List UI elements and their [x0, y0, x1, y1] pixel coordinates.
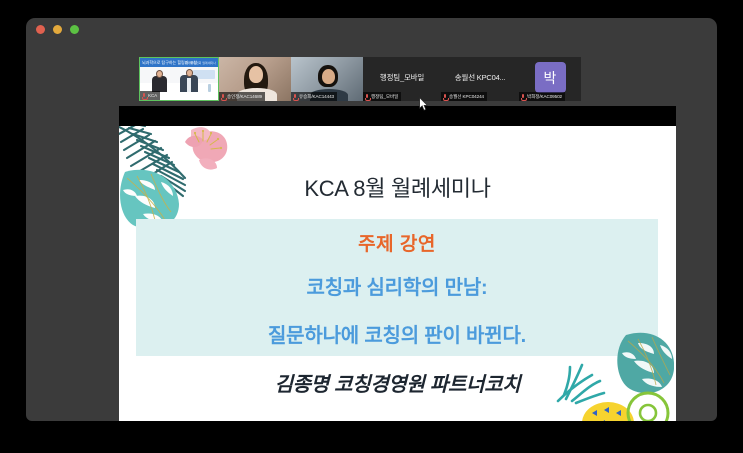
tile-inner-banner-subtitle: 한국코치협회 월례세미나 — [185, 60, 216, 66]
microphone-muted-icon — [365, 94, 369, 100]
participant-filmstrip[interactable]: 뇌과학으로 탐구하는 힐링과 코칭 한국코치협회 월례세미나 KCA — [139, 40, 623, 106]
microphone-muted-icon — [142, 93, 146, 99]
participant-name-badge: 행정팀_모바일 — [363, 92, 401, 101]
participant-name-text: 박희정/KAC09502 — [527, 92, 562, 101]
shared-screen-area[interactable]: KCA 8월 월례세미나 주제 강연 코칭과 심리학의 만남: 질문하나에 코칭… — [119, 106, 676, 421]
participant-tile-yoo-seung-hee[interactable]: 유승희/KAC14443 — [291, 57, 363, 101]
participant-name-text: 유승희/KAC14443 — [299, 92, 334, 101]
participant-tile-song-in-jeong[interactable]: 송인정/KAC14689 — [219, 57, 291, 101]
tile-person-face — [322, 69, 335, 84]
participant-name-badge: 유승희/KAC14443 — [291, 92, 337, 101]
microphone-muted-icon — [443, 94, 447, 100]
tile-inner-banner: 뇌과학으로 탐구하는 힐링과 코칭 한국코치협회 월례세미나 — [140, 58, 218, 67]
close-window-button[interactable] — [36, 25, 45, 34]
participant-name-badge: 송월선 KPC04244 — [441, 92, 487, 101]
participant-name-text: KCA — [148, 91, 157, 100]
traffic-lights — [36, 25, 79, 34]
zoom-meeting-window: 뇌과학으로 탐구하는 힐링과 코칭 한국코치협회 월례세미나 KCA — [26, 18, 717, 421]
slide-topic-panel: 주제 강연 코칭과 심리학의 만남: 질문하나에 코칭의 판이 바뀐다. — [136, 219, 658, 356]
presentation-slide: KCA 8월 월례세미나 주제 강연 코칭과 심리학의 만남: 질문하나에 코칭… — [119, 126, 676, 421]
tile-inner-bottle — [208, 84, 211, 92]
microphone-muted-icon — [293, 94, 297, 100]
participant-tile-song-wol-seon[interactable]: 송월선 KPC04... 송월선 KPC04244 — [441, 57, 519, 101]
letterbox-bar — [119, 106, 676, 126]
avatar: 박 — [535, 62, 566, 93]
participant-name-text: 송인정/KAC14689 — [227, 92, 262, 101]
participant-display-name: 행정팀_모바일 — [380, 72, 424, 83]
tile-person-man-face — [187, 70, 193, 76]
participant-name-badge: KCA — [140, 91, 160, 100]
slide-subtitle-line1: 코칭과 심리학의 만남: — [136, 271, 658, 300]
avatar-initial: 박 — [544, 68, 557, 88]
participant-name-text: 송월선 KPC04244 — [449, 92, 484, 101]
slide-subtitle-line2: 질문하나에 코칭의 판이 바뀐다. — [136, 319, 658, 348]
microphone-muted-icon — [521, 94, 525, 100]
tile-person-woman-body — [152, 76, 167, 92]
participant-tile-kca[interactable]: 뇌과학으로 탐구하는 힐링과 코칭 한국코치협회 월례세미나 KCA — [139, 57, 219, 101]
participant-name-badge: 박희정/KAC09502 — [519, 92, 565, 101]
mouse-cursor — [419, 97, 428, 111]
window-titlebar[interactable] — [26, 18, 717, 40]
participant-tile-admin-team-mobile[interactable]: 행정팀_모바일 행정팀_모바일 — [363, 57, 441, 101]
minimize-window-button[interactable] — [53, 25, 62, 34]
participant-display-name: 송월선 KPC04... — [455, 72, 505, 83]
tile-person-woman-face — [157, 71, 162, 77]
microphone-muted-icon — [221, 94, 225, 100]
participant-name-text: 행정팀_모바일 — [371, 92, 398, 101]
slide-topic-label: 주제 강연 — [136, 229, 658, 256]
participant-name-badge: 송인정/KAC14689 — [219, 92, 265, 101]
slide-speaker-name: 김종명 코칭경영원 파트너코치 — [119, 368, 676, 397]
maximize-window-button[interactable] — [70, 25, 79, 34]
tile-person-face — [249, 66, 263, 83]
slide-title: KCA 8월 월례세미나 — [119, 171, 676, 203]
participant-tile-park-hee-jeong[interactable]: 박 박희정/KAC09502 — [519, 57, 581, 101]
tile-person-man-shirt — [187, 78, 191, 92]
